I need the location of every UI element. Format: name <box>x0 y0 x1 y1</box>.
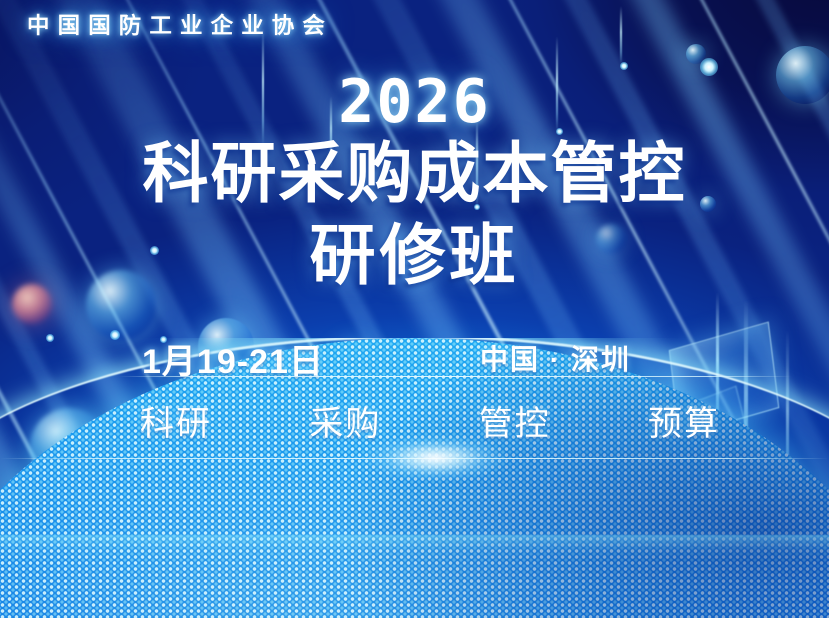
association-name: 中国国防工业企业协会 <box>27 8 333 40</box>
page-title-line-1: 科研采购成本管控 <box>0 140 829 206</box>
event-meta-row: 1月19-21日 中国 · 深圳 <box>120 334 789 376</box>
conference-poster: 中国国防工业企业协会 2026 科研采购成本管控 研修班 1月19-21日 中国… <box>0 0 829 618</box>
event-location: 中国 · 深圳 <box>480 338 631 378</box>
poster-content: 中国国防工业企业协会 2026 科研采购成本管控 研修班 1月19-21日 中国… <box>0 0 829 618</box>
lens-flare-glow <box>330 424 540 492</box>
divider-line-upper <box>118 376 791 377</box>
keyword-item: 科研 <box>140 396 212 445</box>
keyword-item: 预算 <box>648 396 720 445</box>
year-heading: 2026 <box>0 72 829 132</box>
page-title-line-2: 研修班 <box>0 222 829 288</box>
